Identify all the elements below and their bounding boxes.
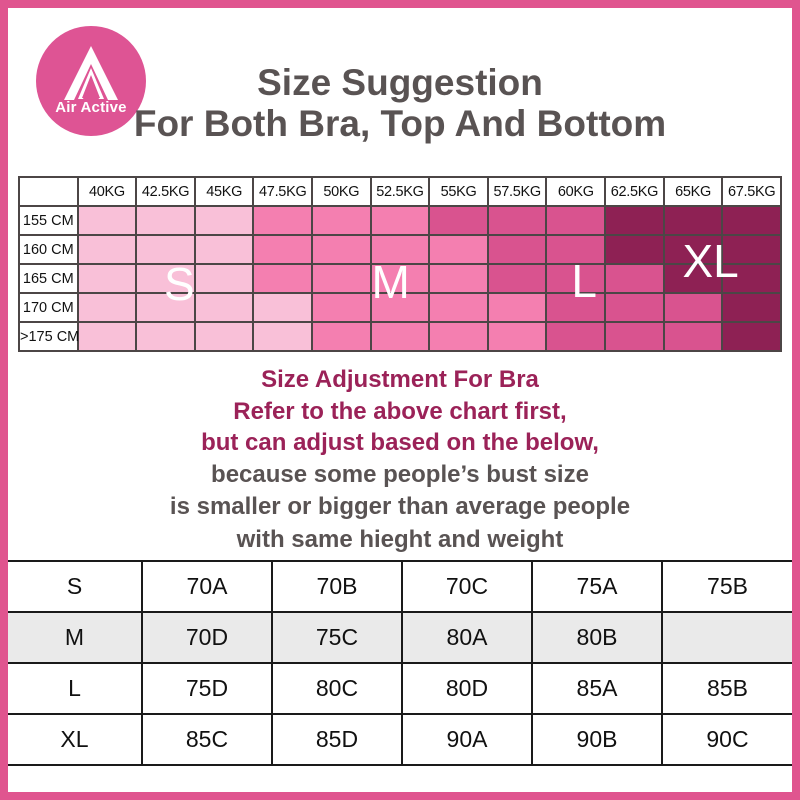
matrix-cell-S	[253, 322, 312, 351]
bra-table-row: M70D75C80A80B	[8, 612, 792, 663]
matrix-row: 155 CM	[19, 206, 781, 235]
matrix-cell-XL	[722, 264, 781, 293]
weight-header-7: 57.5KG	[488, 177, 547, 206]
matrix-cell-M	[429, 235, 488, 264]
matrix-cell-L	[488, 235, 547, 264]
matrix-cell-M	[312, 206, 371, 235]
weight-header-0: 40KG	[78, 177, 137, 206]
matrix-cell-L	[605, 264, 664, 293]
matrix-cell-M	[312, 322, 371, 351]
bra-size-label-XL: XL	[8, 714, 142, 765]
matrix-cell-M	[429, 322, 488, 351]
weight-header-10: 65KG	[664, 177, 723, 206]
matrix-row: 160 CM	[19, 235, 781, 264]
size-matrix: 40KG42.5KG45KG47.5KG50KG52.5KG55KG57.5KG…	[18, 176, 782, 352]
matrix-cell-L	[546, 264, 605, 293]
matrix-cell-S	[78, 322, 137, 351]
adjustment-pink-line-0: Size Adjustment For Bra	[8, 364, 792, 396]
bra-cup-cell: 85A	[532, 663, 662, 714]
page-title: Size Suggestion For Both Bra, Top And Bo…	[8, 62, 792, 145]
matrix-cell-M	[371, 293, 430, 322]
bra-cup-cell: 70B	[272, 561, 402, 612]
bra-cup-cell: 75C	[272, 612, 402, 663]
size-matrix-table: 40KG42.5KG45KG47.5KG50KG52.5KG55KG57.5KG…	[18, 176, 782, 352]
matrix-cell-S	[78, 235, 137, 264]
matrix-cell-M	[253, 264, 312, 293]
matrix-row: 165 CM	[19, 264, 781, 293]
height-label-1: 160 CM	[19, 235, 78, 264]
matrix-cell-XL	[722, 206, 781, 235]
matrix-cell-S	[78, 264, 137, 293]
matrix-cell-L	[488, 206, 547, 235]
bra-cup-cell: 80B	[532, 612, 662, 663]
matrix-cell-S	[195, 293, 254, 322]
matrix-cell-M	[312, 293, 371, 322]
matrix-cell-M	[312, 235, 371, 264]
bra-cup-cell: 85D	[272, 714, 402, 765]
bra-cup-cell: 75B	[662, 561, 792, 612]
bra-cup-cell: 70D	[142, 612, 272, 663]
weight-header-2: 45KG	[195, 177, 254, 206]
bra-cup-cell: 80C	[272, 663, 402, 714]
matrix-cell-L	[546, 322, 605, 351]
title-line-1: Size Suggestion	[8, 62, 792, 103]
adjustment-gray-line-1: is smaller or bigger than average people	[8, 491, 792, 523]
weight-header-row: 40KG42.5KG45KG47.5KG50KG52.5KG55KG57.5KG…	[19, 177, 781, 206]
matrix-cell-M	[371, 235, 430, 264]
matrix-cell-S	[195, 235, 254, 264]
bra-size-table-body: S70A70B70C75A75BM70D75C80A80BL75D80C80D8…	[8, 561, 792, 765]
matrix-cell-XL	[664, 264, 723, 293]
bra-size-label-S: S	[8, 561, 142, 612]
poster-frame: Air Active Size Suggestion For Both Bra,…	[8, 8, 792, 792]
matrix-cell-XL	[664, 206, 723, 235]
matrix-cell-S	[195, 322, 254, 351]
matrix-cell-S	[136, 235, 195, 264]
matrix-cell-L	[429, 206, 488, 235]
bra-cup-cell: 80A	[402, 612, 532, 663]
matrix-cell-S	[78, 206, 137, 235]
matrix-cell-XL	[722, 322, 781, 351]
weight-header-1: 42.5KG	[136, 177, 195, 206]
bra-cup-cell: 85B	[662, 663, 792, 714]
matrix-cell-M	[429, 264, 488, 293]
bra-table-row: S70A70B70C75A75B	[8, 561, 792, 612]
matrix-cell-L	[605, 322, 664, 351]
weight-header-6: 55KG	[429, 177, 488, 206]
adjustment-gray-line-2: with same hieght and weight	[8, 524, 792, 556]
bra-size-label-L: L	[8, 663, 142, 714]
header: Air Active Size Suggestion For Both Bra,…	[8, 8, 792, 176]
matrix-cell-XL	[605, 235, 664, 264]
bra-cup-cell: 90B	[532, 714, 662, 765]
matrix-cell-M	[312, 264, 371, 293]
matrix-cell-S	[136, 293, 195, 322]
bra-cup-cell: 90C	[662, 714, 792, 765]
bra-table-row: L75D80C80D85A85B	[8, 663, 792, 714]
matrix-cell-S	[136, 322, 195, 351]
matrix-cell-M	[429, 293, 488, 322]
bra-cup-cell	[662, 612, 792, 663]
weight-header-8: 60KG	[546, 177, 605, 206]
adjustment-pink-line-2: but can adjust based on the below,	[8, 427, 792, 459]
matrix-cell-M	[488, 322, 547, 351]
weight-header-5: 52.5KG	[371, 177, 430, 206]
matrix-cell-L	[546, 235, 605, 264]
adjustment-gray-line-0: because some people’s bust size	[8, 459, 792, 491]
matrix-cell-M	[371, 206, 430, 235]
height-label-0: 155 CM	[19, 206, 78, 235]
height-label-3: 170 CM	[19, 293, 78, 322]
matrix-cell-S	[253, 293, 312, 322]
bra-cup-cell: 80D	[402, 663, 532, 714]
bra-size-table: S70A70B70C75A75BM70D75C80A80BL75D80C80D8…	[8, 560, 792, 766]
matrix-cell-L	[605, 293, 664, 322]
matrix-cell-L	[664, 322, 723, 351]
matrix-cell-M	[488, 293, 547, 322]
matrix-cell-S	[195, 206, 254, 235]
adjustment-text-block: Size Adjustment For Bra Refer to the abo…	[8, 352, 792, 560]
matrix-cell-XL	[605, 206, 664, 235]
matrix-cell-M	[253, 206, 312, 235]
matrix-row: >175 CM	[19, 322, 781, 351]
matrix-cell-L	[546, 293, 605, 322]
adjustment-pink-line-1: Refer to the above chart first,	[8, 396, 792, 428]
weight-header-3: 47.5KG	[253, 177, 312, 206]
matrix-cell-XL	[664, 235, 723, 264]
matrix-cell-S	[136, 264, 195, 293]
bra-cup-cell: 70C	[402, 561, 532, 612]
matrix-cell-XL	[722, 235, 781, 264]
weight-header-9: 62.5KG	[605, 177, 664, 206]
title-line-2: For Both Bra, Top And Bottom	[8, 103, 792, 144]
matrix-cell-S	[195, 264, 254, 293]
matrix-cell-L	[664, 293, 723, 322]
height-label-2: 165 CM	[19, 264, 78, 293]
height-label-4: >175 CM	[19, 322, 78, 351]
matrix-cell-XL	[722, 293, 781, 322]
weight-header-4: 50KG	[312, 177, 371, 206]
matrix-cell-S	[136, 206, 195, 235]
bra-cup-cell: 75D	[142, 663, 272, 714]
bra-size-label-M: M	[8, 612, 142, 663]
bra-cup-cell: 70A	[142, 561, 272, 612]
matrix-cell-M	[371, 322, 430, 351]
bra-cup-cell: 85C	[142, 714, 272, 765]
bra-table-row: XL85C85D90A90B90C	[8, 714, 792, 765]
matrix-cell-S	[78, 293, 137, 322]
matrix-row: 170 CM	[19, 293, 781, 322]
matrix-cell-M	[253, 235, 312, 264]
matrix-cell-L	[488, 264, 547, 293]
matrix-cell-L	[546, 206, 605, 235]
bra-cup-cell: 75A	[532, 561, 662, 612]
matrix-corner-cell	[19, 177, 78, 206]
matrix-cell-M	[371, 264, 430, 293]
size-matrix-body: 155 CM160 CM165 CM170 CM>175 CM	[19, 206, 781, 351]
size-matrix-header: 40KG42.5KG45KG47.5KG50KG52.5KG55KG57.5KG…	[19, 177, 781, 206]
weight-header-11: 67.5KG	[722, 177, 781, 206]
bra-cup-cell: 90A	[402, 714, 532, 765]
